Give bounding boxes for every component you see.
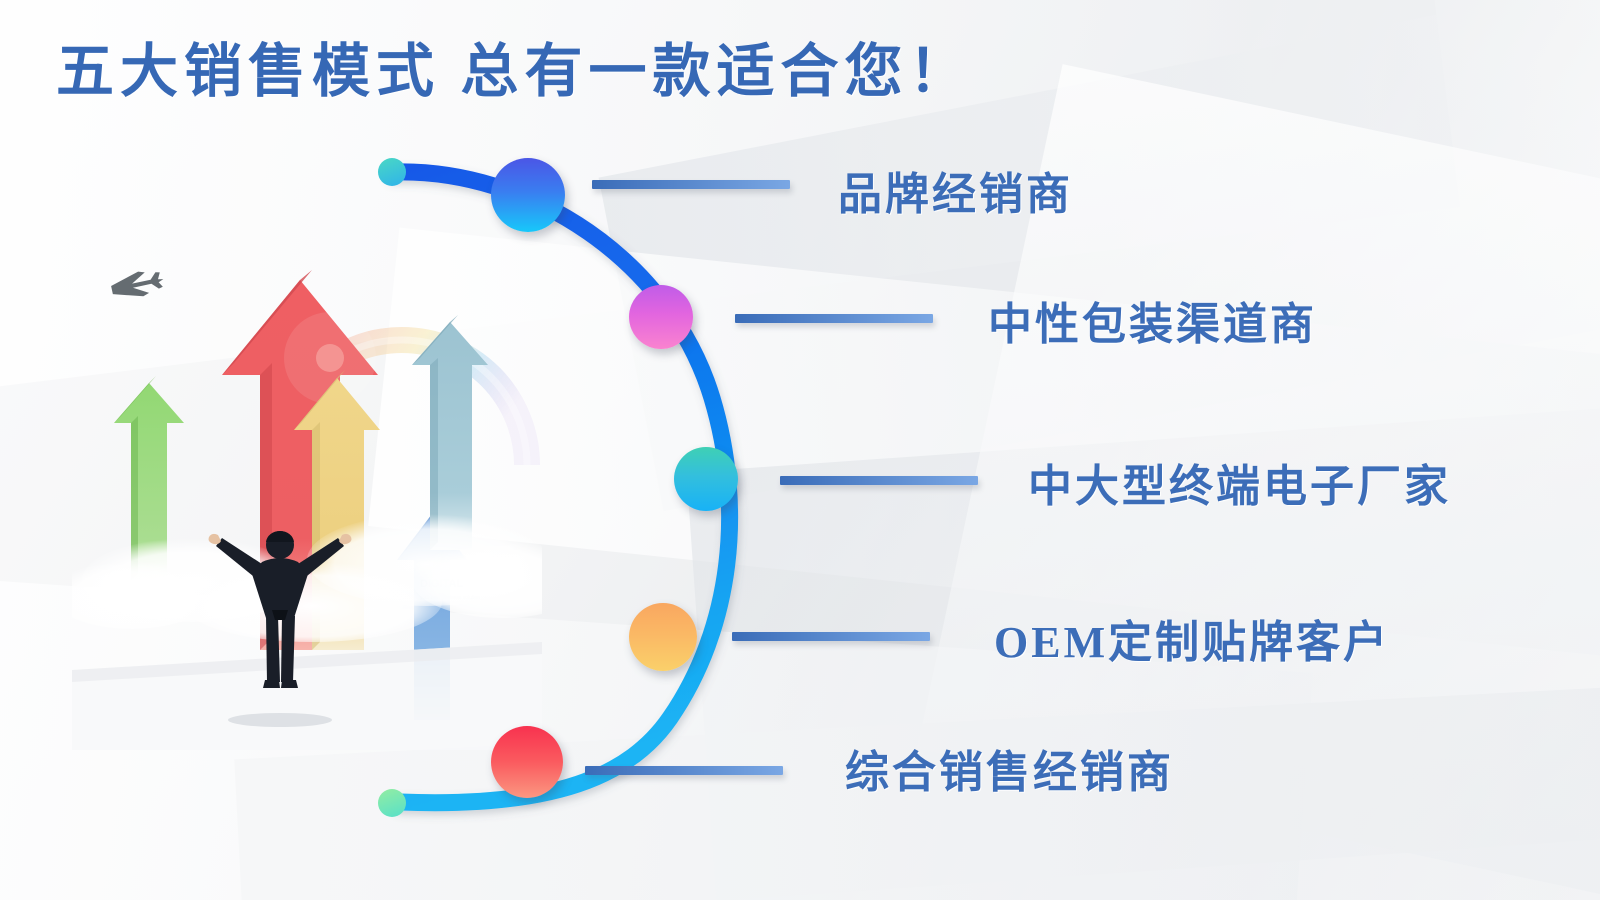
label-neutral-packaging-channel: 中性包装渠道商	[988, 288, 1317, 352]
label-brand-dealer: 品牌经销商	[838, 158, 1073, 222]
node-comprehensive-sales-dealer[interactable]	[491, 726, 563, 798]
label-large-terminal-electronics-factory: 中大型终端电子厂家	[1028, 450, 1451, 514]
label-oem-custom-label-customer: OEM定制贴牌客户	[994, 606, 1390, 670]
node-brand-dealer[interactable]	[491, 158, 565, 232]
arc-end-cap-icon	[378, 789, 406, 817]
arc-start-cap-icon	[378, 158, 406, 186]
node-neutral-packaging-channel[interactable]	[629, 285, 693, 349]
label-comprehensive-sales-dealer: 综合销售经销商	[845, 736, 1174, 800]
page-title: 五大销售模式 总有一款适合您！	[56, 24, 973, 108]
airplane-icon	[109, 267, 166, 303]
poster-canvas: DIGITAL your new business solution	[0, 0, 1600, 900]
connector-bar-5	[585, 766, 783, 775]
node-large-terminal-electronics-factory[interactable]	[674, 447, 738, 511]
connector-bar-1	[592, 180, 790, 189]
connector-bar-3	[780, 476, 978, 485]
connector-bar-2	[735, 314, 933, 323]
connector-bar-4	[732, 632, 930, 641]
node-oem-custom-label-customer[interactable]	[629, 603, 697, 671]
